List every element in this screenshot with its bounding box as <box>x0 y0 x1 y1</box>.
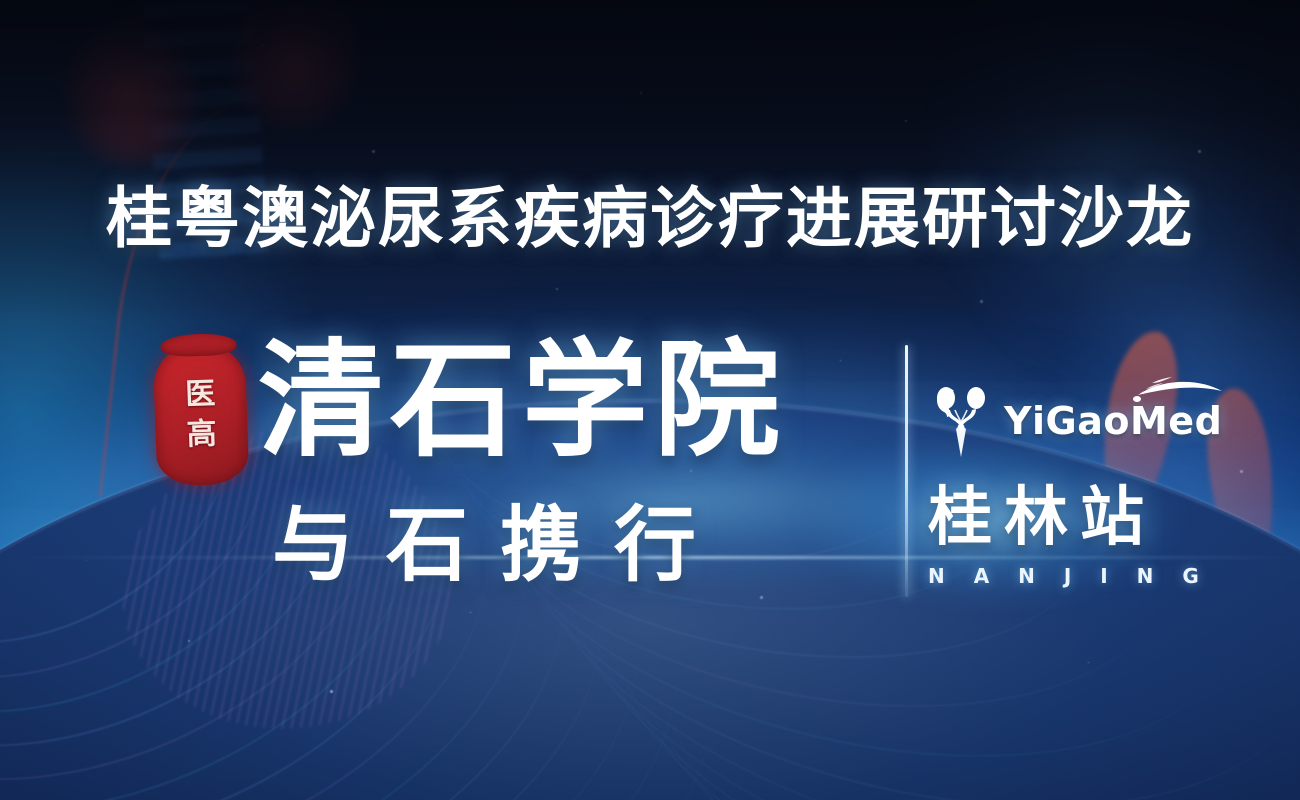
logo-wordmark: YiGaoMed <box>1004 399 1222 443</box>
logo-lockup: YiGaoMed <box>928 382 1248 460</box>
seal-char-bottom: 高 <box>186 419 217 450</box>
right-column: YiGaoMed 桂林站 N A N J I N G <box>928 382 1248 588</box>
conference-banner: 桂粤澳泌尿系疾病诊疗进展研讨沙龙 医 高 清石学院 与石携行 <box>0 0 1300 800</box>
event-headline: 桂粤澳泌尿系疾病诊疗进展研讨沙龙 <box>0 186 1300 252</box>
vertical-divider <box>905 345 908 597</box>
kidney-pen-icon <box>928 382 994 460</box>
brand-tagline: 与石携行 <box>272 505 728 587</box>
red-seal-stamp: 医 高 <box>153 343 250 486</box>
brand-name: 清石学院 <box>258 338 786 464</box>
banner-content: 桂粤澳泌尿系疾病诊疗进展研讨沙龙 医 高 清石学院 与石携行 <box>0 0 1300 800</box>
wing-swoosh-icon <box>1132 375 1228 409</box>
station-pinyin: N A N J I N G <box>928 564 1248 588</box>
station-name: 桂林站 <box>928 486 1248 550</box>
seal-char-top: 医 <box>185 379 216 410</box>
